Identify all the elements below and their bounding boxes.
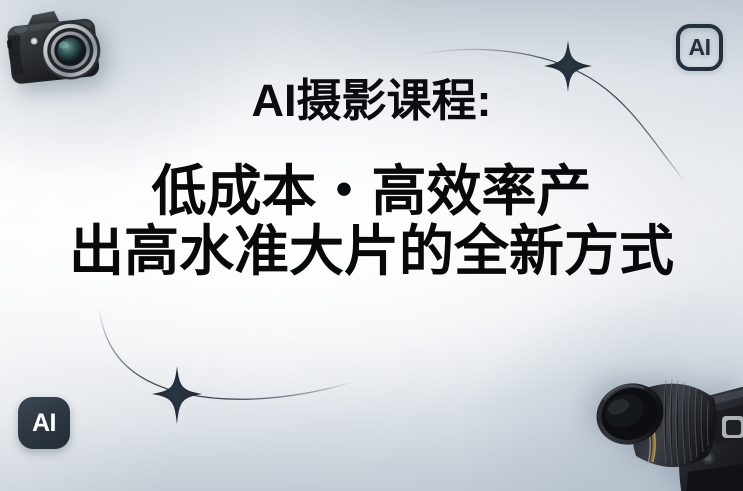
headline-block: AI摄影课程: 低成本・高效率产 出高水准大片的全新方式 [0, 78, 743, 281]
ai-badge-top-right[interactable]: AI [676, 24, 723, 71]
ai-badge-bottom-left[interactable]: AI [18, 397, 70, 449]
dslr-camera-icon [596, 352, 743, 491]
ai-badge-label: AI [689, 36, 711, 59]
headline-line-3: 出高水准大片的全新方式 [0, 222, 743, 280]
headline-line-2: 低成本・高效率产 [0, 162, 743, 220]
poster-canvas: AI AI AI摄影课程: 低成本・高效率产 出高水准大片的全新方式 [0, 0, 743, 491]
headline-line-1: AI摄影课程: [0, 78, 743, 123]
ai-badge-label: AI [32, 411, 56, 436]
